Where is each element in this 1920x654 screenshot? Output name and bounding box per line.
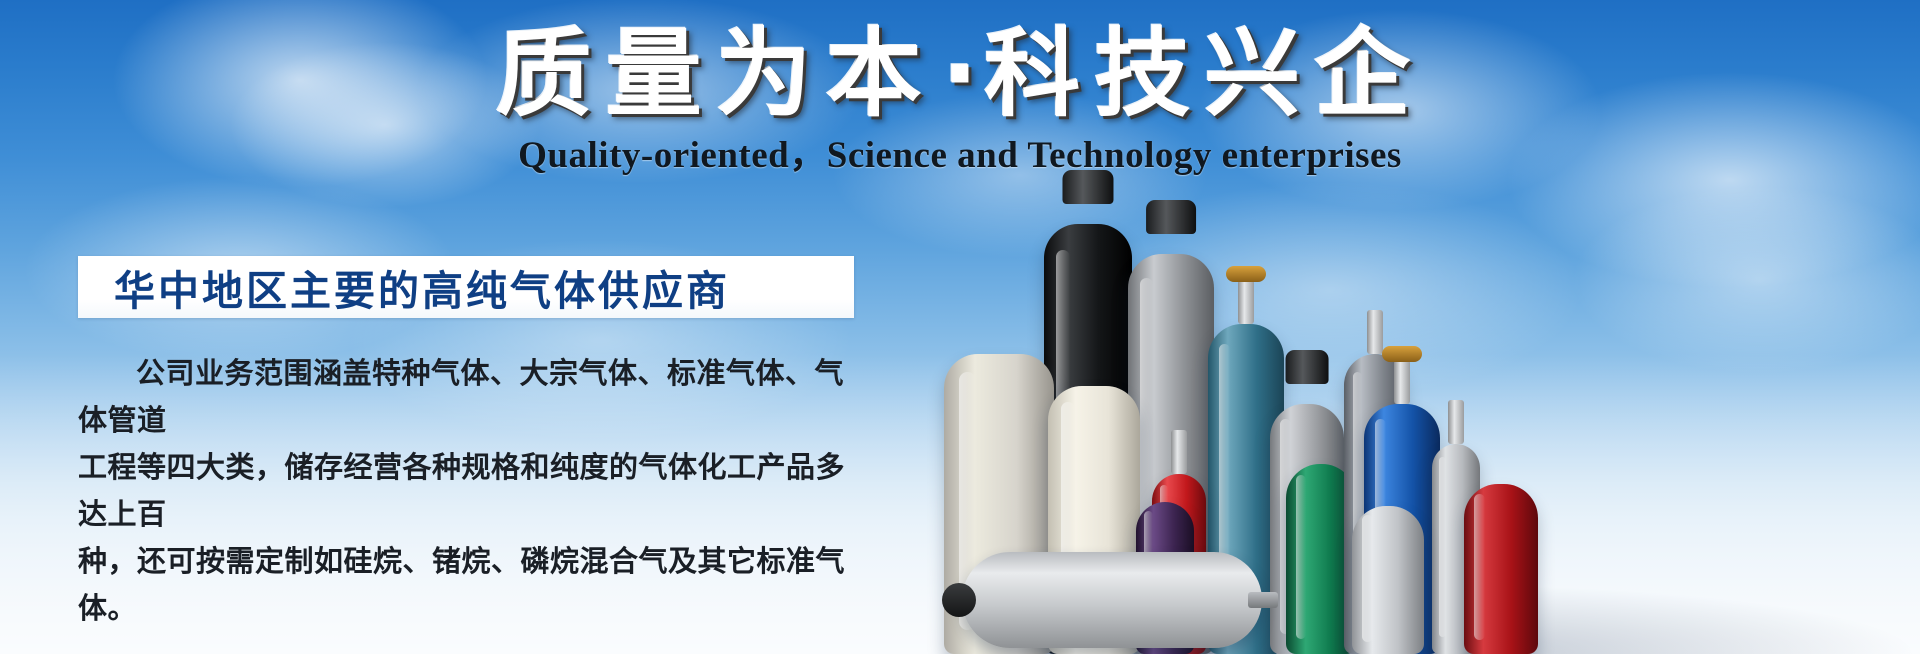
cylinder-valve [1448, 400, 1464, 444]
cylinder-cap [1062, 170, 1113, 204]
highlight-sheen [1296, 475, 1307, 638]
tagline-text: 华中地区主要的高纯气体供应商 [78, 257, 730, 317]
paragraph-line-3: 种，还可按需定制如硅烷、锗烷、磷烷混合气及其它标准气体。 [78, 538, 868, 632]
cylinder-cap [1286, 350, 1329, 384]
highlight-sheen [1474, 494, 1485, 640]
cylinder-handwheel [1382, 346, 1422, 362]
headline-part-one: 质量为本 [496, 18, 936, 130]
tank-end-cap [942, 583, 976, 617]
cylinder-cap [1146, 200, 1196, 234]
cylinder-valve [1238, 280, 1254, 324]
highlight-sheen [1362, 515, 1373, 642]
tank-valve [1248, 592, 1278, 608]
paragraph-line-1: 公司业务范围涵盖特种气体、大宗气体、标准气体、气体管道 [78, 350, 868, 444]
description-paragraph: 公司业务范围涵盖特种气体、大宗气体、标准气体、气体管道 工程等四大类，储存经营各… [78, 350, 868, 632]
cylinder-handwheel [1226, 266, 1266, 282]
paragraph-line-2: 工程等四大类，储存经营各种规格和纯度的气体化工产品多达上百 [78, 444, 868, 538]
cylinder-silver-wide [1352, 506, 1424, 654]
cylinder-valve [1171, 430, 1187, 474]
tagline-box: 华中地区主要的高纯气体供应商 [78, 256, 854, 318]
highlight-sheen [1439, 457, 1446, 638]
promotional-banner: 质量为本·科技兴企 Quality-oriented，Science and T… [0, 0, 1920, 654]
cylinder-valve [1394, 360, 1410, 404]
cylinder-maroon-wide [1464, 484, 1538, 654]
gas-cylinder-group [940, 0, 1920, 654]
cylinder-valve [1367, 310, 1383, 354]
cylinder-horizontal-tank [962, 552, 1262, 648]
